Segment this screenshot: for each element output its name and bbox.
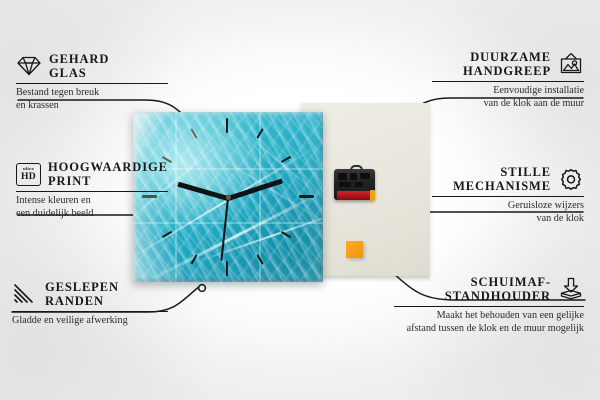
callout-title: PRINT [48,174,168,188]
battery-terminal [370,190,375,201]
infographic-canvas: GEHARD GLAS Bestand tegen breuk en krass… [0,0,600,400]
diamond-icon [16,55,42,77]
callout-divider [432,81,584,82]
callout-subtitle: en krassen [16,100,168,112]
callout-divider [16,83,168,84]
product-photo [133,101,430,283]
callout-title: STANDHOUDER [445,289,551,303]
callout-hoogwaardige-print: ultra HD HOOGWAARDIGE PRINT Intense kleu… [16,160,168,220]
mechanism-body [334,169,375,200]
callout-subtitle: afstand tussen de klok en de muur mogeli… [394,323,584,335]
callout-divider [12,311,168,312]
callout-duurzame-handgreep: DUURZAME HANDGREEP Eenvoudige installati… [432,50,584,110]
callout-subtitle: Bestand tegen breuk [16,87,168,99]
polished-edges-icon [12,283,38,305]
picture-frame-icon [558,52,584,76]
callout-title: MECHANISME [453,179,551,193]
callout-title: GESLEPEN [45,280,119,294]
callout-divider [432,196,584,197]
callout-subtitle: van de klok [432,213,584,225]
callout-geslepen-randen: GESLEPEN RANDEN Gladde en veilige afwerk… [12,280,168,328]
callout-title: SCHUIMAF- [445,275,551,289]
callout-divider [16,191,168,192]
callout-title: GLAS [49,66,109,80]
ultra-hd-icon-large-text: HD [21,172,36,182]
callout-title: STILLE [453,165,551,179]
callout-subtitle: een duidelijk beeld [16,208,168,220]
connector-dot-geslepen-randen [199,285,206,292]
quartz-mechanism [334,165,375,200]
gear-icon [558,167,584,191]
battery [337,191,372,200]
callout-title: DUURZAME [463,50,551,64]
callout-title: GEHARD [49,52,109,66]
foam-spacer [346,241,363,258]
ultra-hd-icon: ultra HD [16,163,41,186]
callout-stille-mechanisme: STILLE MECHANISME Geruisloze wijzers van… [432,165,584,225]
callout-subtitle: van de klok aan de muur [432,98,584,110]
spacer-press-icon [558,277,584,301]
callout-title: HOOGWAARDIGE [48,160,168,174]
callout-divider [394,306,584,307]
callout-subtitle: Geruisloze wijzers [432,200,584,212]
callout-title: RANDEN [45,294,119,308]
callout-schuimafstandhouder: SCHUIMAF- STANDHOUDER Maakt het behouden… [394,275,584,335]
callout-subtitle: Maakt het behouden van een gelijke [394,310,584,322]
callout-gehard-glas: GEHARD GLAS Bestand tegen breuk en krass… [16,52,168,112]
callout-subtitle: Eenvoudige installatie [432,85,584,97]
callout-subtitle: Gladde en veilige afwerking [12,315,168,327]
callout-title: HANDGREEP [463,64,551,78]
callout-subtitle: Intense kleuren en [16,195,168,207]
